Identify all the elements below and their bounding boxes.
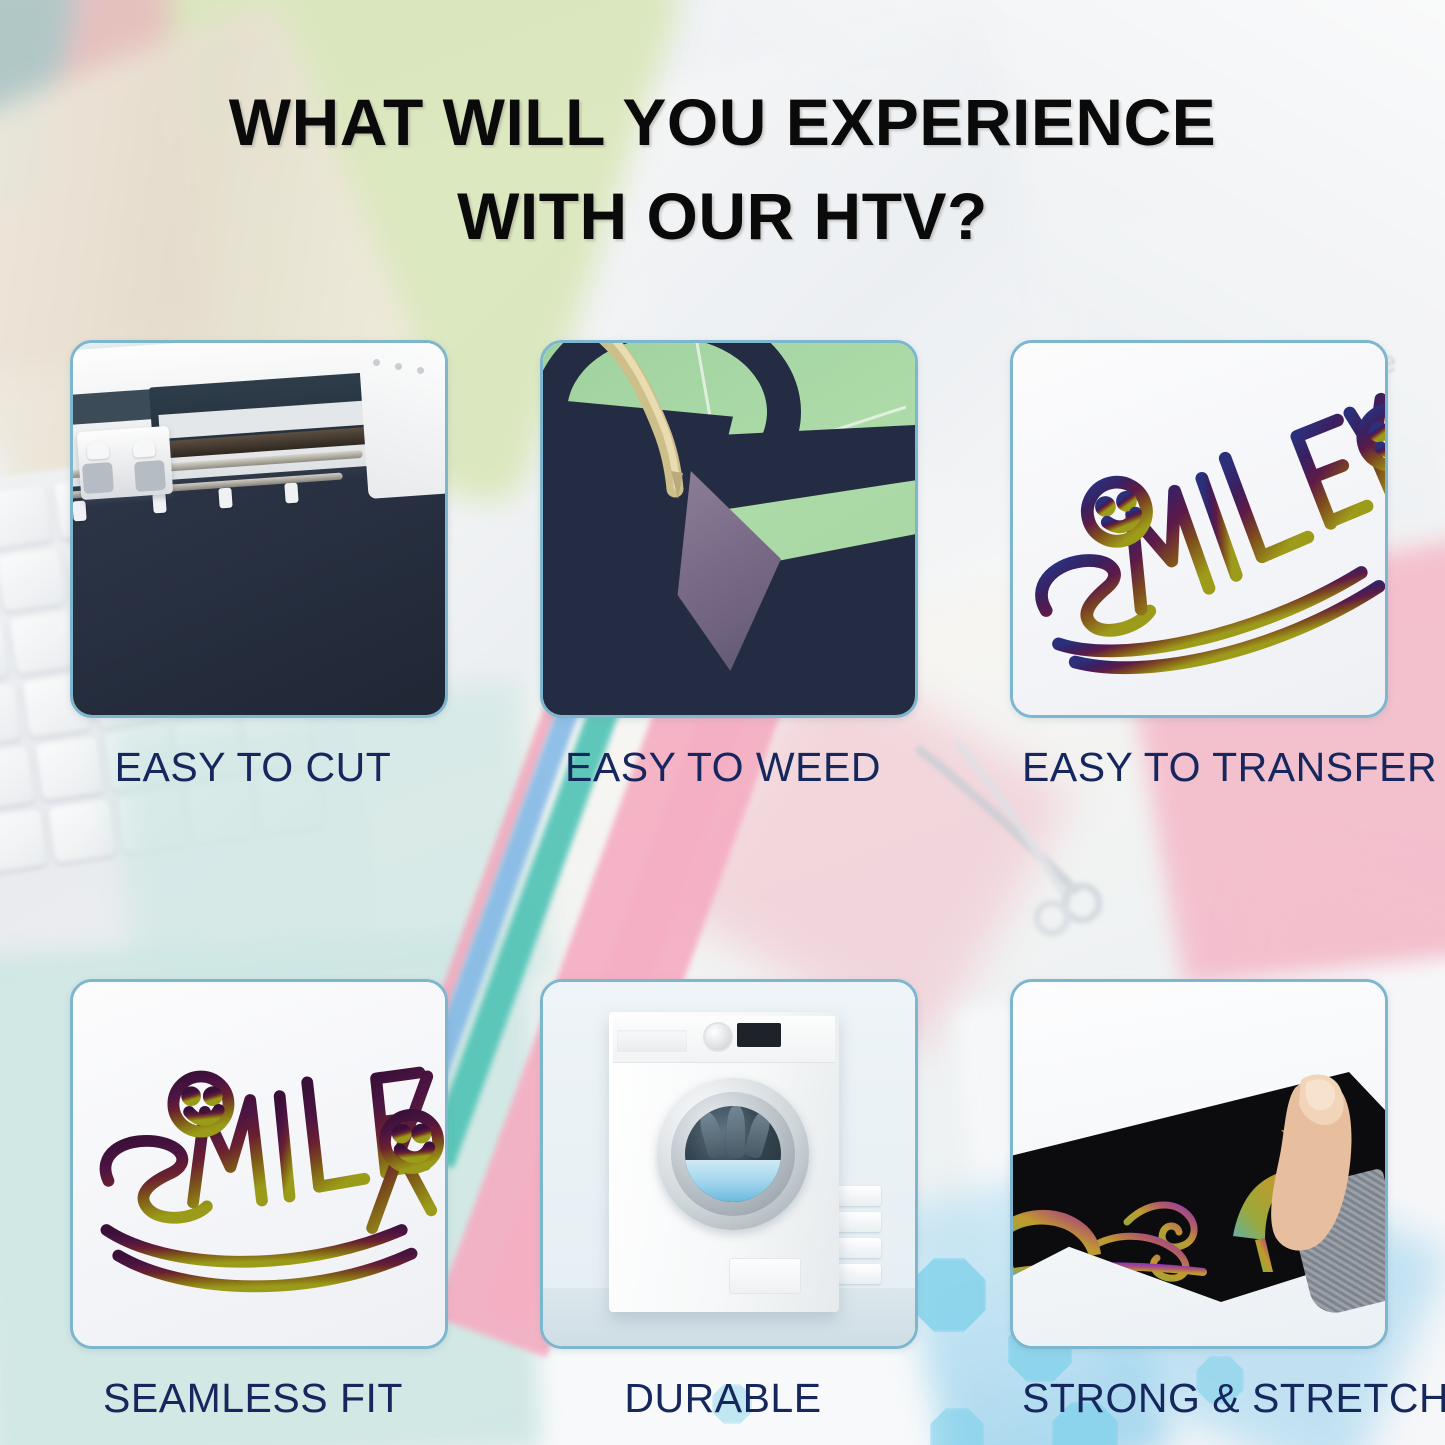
feature-row-2: SEAMLESS FIT xyxy=(70,979,1388,1422)
drum-fin-1 xyxy=(697,1110,727,1159)
feature-image-easy-to-transfer[interactable] xyxy=(1010,340,1388,718)
mat-clip-2 xyxy=(218,488,232,509)
feature-cell-easy-to-transfer: EASY TO TRANSFER xyxy=(1010,340,1388,791)
page-title-line-1: WHAT WILL YOU EXPERIENCE xyxy=(0,76,1445,170)
feature-grid: EASY TO CUT xyxy=(70,340,1388,1422)
feature-image-strong-stretchy[interactable] xyxy=(1010,979,1388,1349)
keyboard-key xyxy=(0,548,66,612)
caption-easy-to-weed: EASY TO WEED xyxy=(534,744,912,791)
washing-machine-glass xyxy=(685,1106,781,1202)
feature-image-easy-to-cut[interactable] xyxy=(70,340,448,718)
weeding-tool-icon xyxy=(579,340,709,511)
machine-button-2-icon xyxy=(395,363,402,370)
caption-seamless-fit: SEAMLESS FIT xyxy=(64,1375,442,1422)
keyboard-key xyxy=(9,611,78,675)
page-title: WHAT WILL YOU EXPERIENCE WITH OUR HTV? xyxy=(0,76,1445,263)
feature-row-1: EASY TO CUT xyxy=(70,340,1388,791)
mat-clip-1 xyxy=(152,493,166,514)
washing-machine-display xyxy=(737,1023,781,1047)
caption-strong-stretchy: STRONG & STRETCHY xyxy=(1022,1375,1400,1422)
mat-clip-3 xyxy=(284,483,298,504)
caption-easy-to-cut: EASY TO CUT xyxy=(64,744,442,791)
caption-durable: DURABLE xyxy=(534,1375,912,1422)
infographic-page: silhouette M WHAT WILL YOU EXPERIENCE WI… xyxy=(0,0,1445,1445)
drum-fin-3 xyxy=(743,1110,773,1159)
feature-cell-strong-stretchy: STRONG & STRETCHY xyxy=(1010,979,1388,1422)
feature-cell-durable: DURABLE xyxy=(540,979,918,1422)
keyboard-key xyxy=(0,485,53,549)
detergent-drawer xyxy=(617,1030,687,1052)
filter-hatch xyxy=(729,1258,801,1294)
hand-icon xyxy=(1261,1060,1379,1256)
cutting-machine-right-panel xyxy=(358,340,448,499)
cut-navy-vinyl xyxy=(70,459,448,718)
carriage-knob-b xyxy=(132,438,155,457)
program-dial xyxy=(703,1022,733,1052)
feature-image-easy-to-weed[interactable] xyxy=(540,340,918,718)
smiley-graffiti-icon xyxy=(1013,343,1385,715)
smiley-graffiti-seamless-icon xyxy=(73,982,445,1346)
mat-clip-4 xyxy=(72,501,86,522)
drum-fin-2 xyxy=(727,1106,745,1158)
caption-easy-to-transfer: EASY TO TRANSFER xyxy=(1022,744,1400,791)
page-title-line-2: WITH OUR HTV? xyxy=(0,170,1445,264)
feature-cell-seamless-fit: SEAMLESS FIT xyxy=(70,979,448,1422)
carriage-clamp-b xyxy=(134,460,166,492)
carriage-clamp-a xyxy=(82,462,114,494)
machine-button-3-icon xyxy=(417,367,424,374)
keyboard-key xyxy=(0,809,48,873)
machine-button-1-icon xyxy=(373,359,380,366)
feature-image-seamless-fit[interactable] xyxy=(70,979,448,1349)
feature-cell-easy-to-cut: EASY TO CUT xyxy=(70,340,448,791)
washing-machine-icon xyxy=(609,1012,839,1312)
feature-cell-easy-to-weed: EASY TO WEED xyxy=(540,340,918,791)
carriage-knob-a xyxy=(86,440,109,459)
feature-image-durable[interactable] xyxy=(540,979,918,1349)
